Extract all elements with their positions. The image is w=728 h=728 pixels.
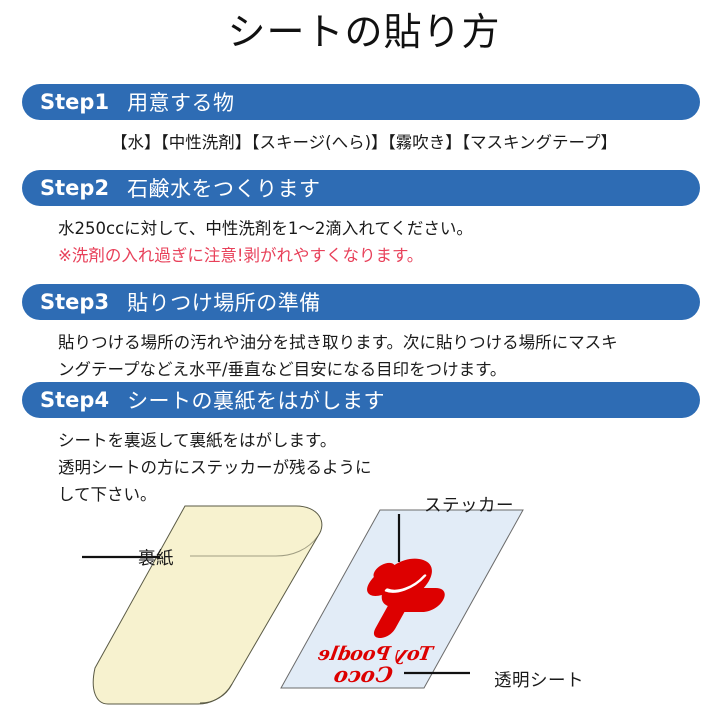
step-block-3: Step3 貼りつけ場所の準備 貼りつける場所の汚れや油分を拭き取ります。次に貼… — [0, 284, 728, 383]
step-body-1-line-1: 【水】【中性洗剤】【スキージ(へら)】【霧吹き】【マスキングテープ】 — [0, 129, 728, 156]
peel-illustration: Toy Poodle Coco — [0, 484, 728, 728]
step-header-bar-3: Step3 貼りつけ場所の準備 — [22, 284, 700, 320]
step-number-1: Step1 — [40, 90, 109, 114]
step-header-bar-2: Step2 石鹸水をつくります — [22, 170, 700, 206]
step-body-4-line-1: シートを裏返して裏紙をはがします。 — [58, 427, 728, 454]
step-header-bar-4: Step4 シートの裏紙をはがします — [22, 382, 700, 418]
instruction-sheet: シートの貼り方 Step1 用意する物 【水】【中性洗剤】【スキージ(へら)】【… — [0, 0, 728, 728]
step-body-3-line-1: 貼りつける場所の汚れや油分を拭き取ります。次に貼りつける場所にマスキングテープな… — [58, 329, 618, 383]
step-heading-2: 石鹸水をつくります — [127, 173, 321, 203]
step-body-2-line-1: 水250ccに対して、中性洗剤を1〜2滴入れてください。 — [58, 215, 728, 242]
step-body-3: 貼りつける場所の汚れや油分を拭き取ります。次に貼りつける場所にマスキングテープな… — [58, 329, 728, 383]
step-body-4-line-2: 透明シートの方にステッカーが残るように — [58, 454, 728, 481]
label-transparent-sheet: 透明シート — [494, 667, 584, 692]
step-number-4: Step4 — [40, 388, 109, 412]
label-sticker: ステッカー — [424, 492, 514, 517]
step-heading-1: 用意する物 — [127, 87, 235, 117]
step-header-bar-1: Step1 用意する物 — [22, 84, 700, 120]
step-block-2: Step2 石鹸水をつくります 水250ccに対して、中性洗剤を1〜2滴入れてく… — [0, 170, 728, 269]
step-block-1: Step1 用意する物 【水】【中性洗剤】【スキージ(へら)】【霧吹き】【マスキ… — [0, 84, 728, 156]
step-heading-4: シートの裏紙をはがします — [127, 385, 385, 415]
label-backing-paper: 裏紙 — [138, 545, 174, 570]
sticker-text-line-1: Toy Poodle — [312, 642, 438, 664]
step-heading-3: 貼りつけ場所の準備 — [127, 287, 321, 317]
step-number-3: Step3 — [40, 290, 109, 314]
step-number-2: Step2 — [40, 176, 109, 200]
page-title: シートの貼り方 — [0, 8, 728, 57]
backing-paper-shape — [93, 506, 322, 704]
step-body-2-warning: ※洗剤の入れ過ぎに注意!剥がれやすくなります。 — [58, 242, 728, 269]
step-body-2: 水250ccに対して、中性洗剤を1〜2滴入れてください。 ※洗剤の入れ過ぎに注意… — [58, 215, 728, 269]
step-body-1: 【水】【中性洗剤】【スキージ(へら)】【霧吹き】【マスキングテープ】 — [58, 129, 728, 156]
